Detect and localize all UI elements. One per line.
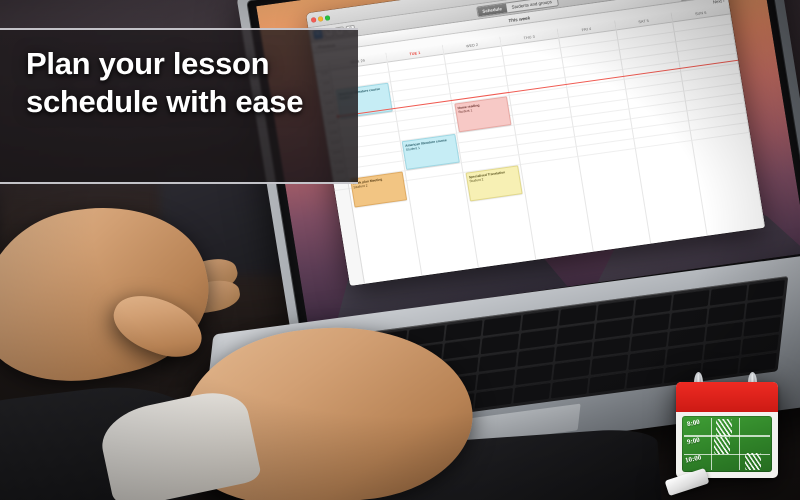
page-title: Plan your lesson schedule with ease bbox=[26, 45, 346, 122]
calendar-body: 8:00 9:00 10:00 bbox=[676, 382, 778, 478]
chalkboard: 8:00 9:00 10:00 bbox=[682, 416, 772, 472]
promo-scene: Plan Your Schedule - Easy Teacher Assist… bbox=[0, 0, 800, 500]
chalk-mark-1 bbox=[716, 419, 732, 436]
calendar-header-band bbox=[676, 382, 778, 412]
chalk-mark-3 bbox=[745, 453, 761, 470]
app-icon-badge: 8:00 9:00 10:00 bbox=[664, 370, 790, 492]
chalk-mark-2 bbox=[714, 437, 730, 454]
